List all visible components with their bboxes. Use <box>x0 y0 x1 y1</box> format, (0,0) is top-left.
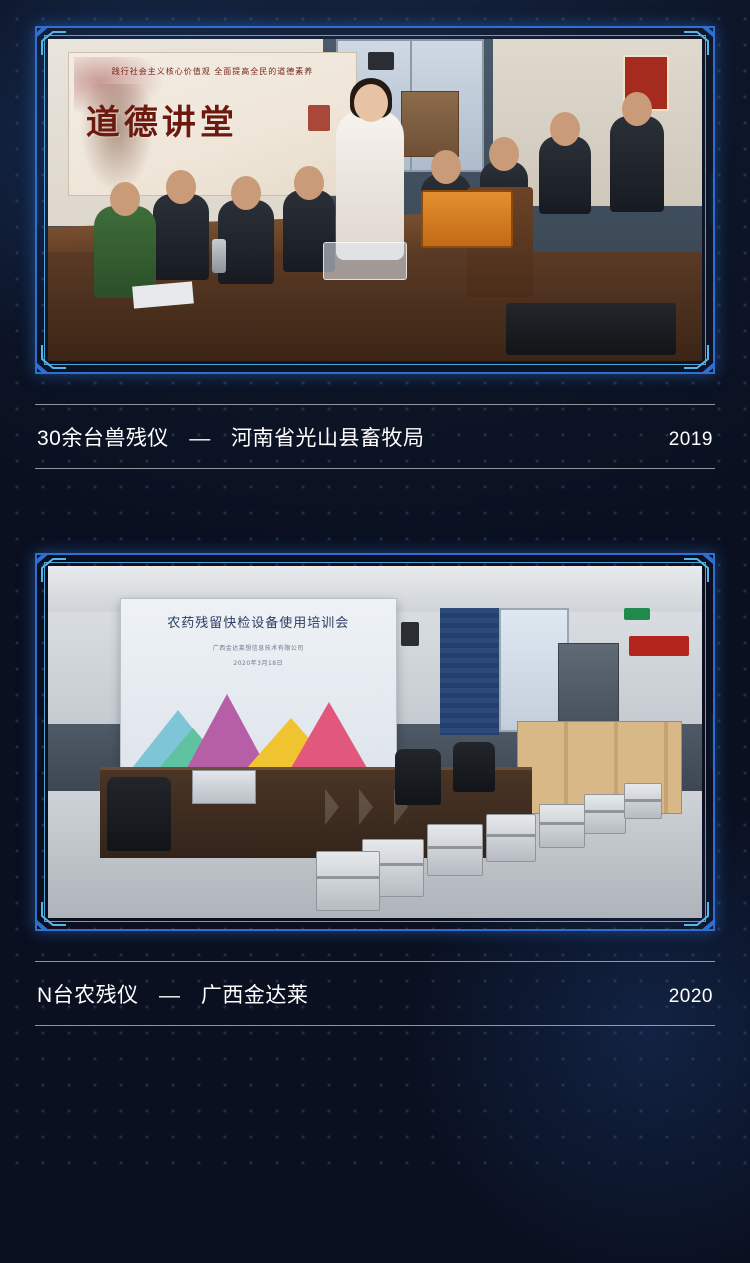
head <box>231 176 261 210</box>
photo-frame-inner-1: 践行社会主义核心价值观 全面提高全民的道德素养 道德讲堂 <box>35 26 715 374</box>
head <box>354 84 388 122</box>
photo-frame-2: 农药残留快检设备使用培训会 广西金达莱想信息技术有限公司 2020年3月18日 <box>35 553 715 931</box>
slide-subtitle: 广西金达莱想信息技术有限公司 <box>135 643 382 652</box>
aluminium-case-2 <box>427 824 483 876</box>
banner-slogan: 践行社会主义核心价值观 全面提高全民的道德素养 <box>92 66 334 77</box>
case-year: 2020 <box>669 986 713 1008</box>
window-blind <box>440 608 499 735</box>
wall-sign <box>629 636 689 656</box>
caption-rule-bottom <box>35 1025 715 1026</box>
caption-row: N台农残仪 — 广西金达莱 2020 <box>35 962 715 1025</box>
podium-chevron-1 <box>325 789 339 825</box>
aluminium-case-4 <box>539 804 585 848</box>
banner-title: 道德讲堂 <box>86 95 305 144</box>
projector-device <box>192 770 256 804</box>
black-equipment-case <box>506 303 676 355</box>
attendee-6 <box>539 136 591 214</box>
caption-row: 30余台兽残仪 — 河南省光山县畜牧局 2019 <box>35 405 715 468</box>
red-seal <box>308 105 330 131</box>
photo-frame-1: 践行社会主义核心价值观 全面提高全民的道德素养 道德讲堂 <box>35 26 715 374</box>
caption-dash: — <box>159 984 181 1007</box>
exit-sign <box>624 608 650 620</box>
case-year: 2019 <box>669 429 713 451</box>
case-title: N台农残仪 <box>37 984 139 1007</box>
case-client: 河南省光山县畜牧局 <box>231 427 425 450</box>
presenter-white-coat <box>336 110 404 260</box>
head <box>294 166 324 200</box>
aluminium-case-6 <box>624 783 662 819</box>
head <box>166 170 196 204</box>
clear-storage-box <box>323 242 407 280</box>
caption-left: 30余台兽残仪 — 河南省光山县畜牧局 <box>37 422 425 452</box>
head <box>431 150 461 184</box>
aluminium-case-3 <box>486 814 536 862</box>
office-chair-2 <box>395 749 441 805</box>
speaker-icon <box>368 52 394 70</box>
orange-instrument-case <box>421 190 513 248</box>
head <box>550 112 580 146</box>
caption-2: N台农残仪 — 广西金达莱 2020 <box>35 931 715 1026</box>
aluminium-case-7 <box>316 851 380 911</box>
thermos-cup <box>212 239 226 273</box>
caption-1: 30余台兽残仪 — 河南省光山县畜牧局 2019 <box>35 374 715 469</box>
office-chair-3 <box>453 742 495 792</box>
training-room-photo: 农药残留快检设备使用培训会 广西金达莱想信息技术有限公司 2020年3月18日 <box>48 566 702 918</box>
case-title: 30余台兽残仪 <box>37 427 169 450</box>
case-card-2: 农药残留快检设备使用培训会 广西金达莱想信息技术有限公司 2020年3月18日 <box>0 469 750 1026</box>
caption-dash: — <box>189 427 211 450</box>
case-card-1: 践行社会主义核心价值观 全面提高全民的道德素养 道德讲堂 <box>0 0 750 469</box>
head <box>110 182 140 216</box>
head <box>622 92 652 126</box>
meeting-room-photo: 践行社会主义核心价值观 全面提高全民的道德素养 道德讲堂 <box>48 39 702 361</box>
speaker-icon <box>401 622 419 646</box>
attendee-7 <box>610 116 664 212</box>
slide-title: 农药残留快检设备使用培训会 <box>135 612 382 631</box>
photo-frame-inner-2: 农药残留快检设备使用培训会 广西金达莱想信息技术有限公司 2020年3月18日 <box>35 553 715 931</box>
office-chair-1 <box>107 777 171 851</box>
wood-cabinet <box>401 91 459 157</box>
caption-left: N台农残仪 — 广西金达莱 <box>37 979 308 1009</box>
aluminium-case-5 <box>584 794 626 834</box>
attendee-2 <box>218 200 274 284</box>
content-root: 践行社会主义核心价值观 全面提高全民的道德素养 道德讲堂 <box>0 0 750 1026</box>
projector-screen: 农药残留快检设备使用培训会 广西金达莱想信息技术有限公司 2020年3月18日 <box>120 598 397 769</box>
slide-date: 2020年3月18日 <box>135 658 382 667</box>
podium-chevron-2 <box>359 789 373 825</box>
photo-clip-2: 农药残留快检设备使用培训会 广西金达莱想信息技术有限公司 2020年3月18日 <box>48 566 702 918</box>
attendee-1 <box>153 194 209 280</box>
head <box>489 137 519 171</box>
photo-clip-1: 践行社会主义核心价值观 全面提高全民的道德素养 道德讲堂 <box>48 39 702 361</box>
case-client: 广西金达莱 <box>201 984 309 1007</box>
slide-shape-4 <box>291 702 367 768</box>
